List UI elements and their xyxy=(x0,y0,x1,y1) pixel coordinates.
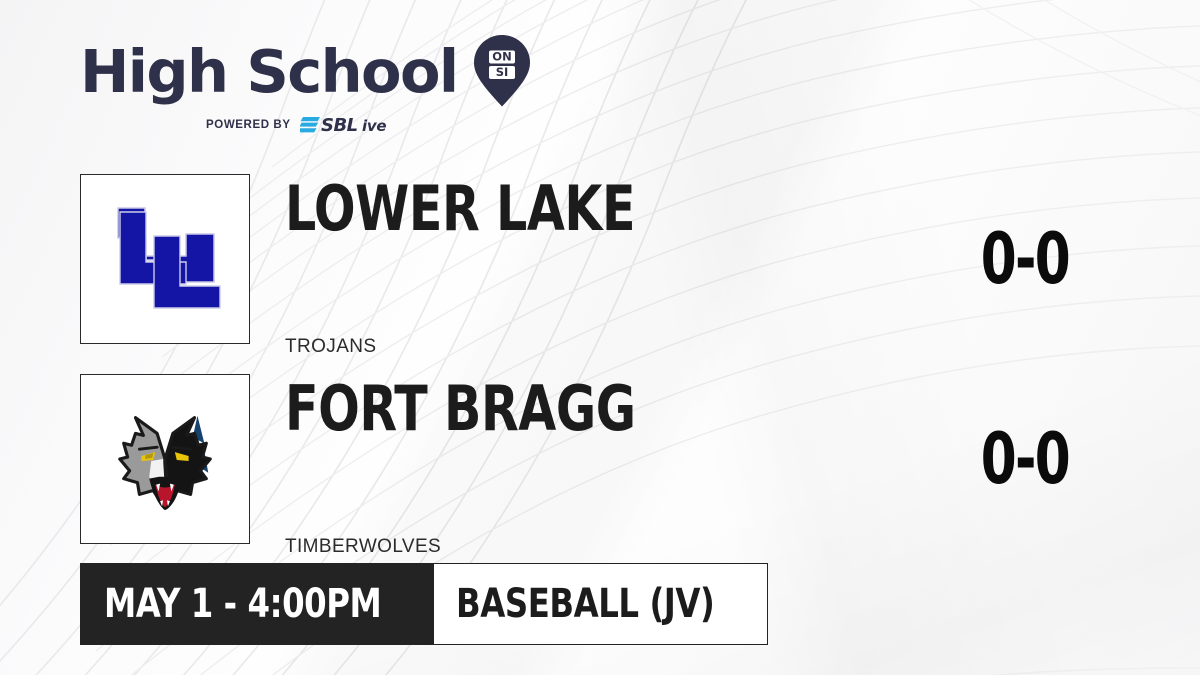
team-record-away: 0-0 xyxy=(920,374,1130,544)
game-datetime-block: MAY 1 - 4:00PM xyxy=(80,563,434,645)
team-mascot: TROJANS xyxy=(285,336,376,358)
team-record-home: 0-0 xyxy=(920,174,1130,344)
on-si-pin-icon: ON SI xyxy=(472,34,532,108)
wolf-head-icon xyxy=(120,416,210,510)
game-sport: BASEBALL (JV) xyxy=(456,584,714,624)
sblive-s-swoosh-icon xyxy=(300,117,320,132)
svg-text:SBL: SBL xyxy=(321,115,358,135)
svg-text:ON: ON xyxy=(492,49,511,63)
powered-by-label: POWERED BY xyxy=(206,119,291,131)
page-title: High School xyxy=(80,42,458,101)
header: High School ON SI POWERED BY xyxy=(80,34,720,135)
team-text-away: FORT BRAGG TIMBERWOLVES xyxy=(285,374,925,544)
record-value: 0-0 xyxy=(981,424,1069,494)
svg-text:ive: ive xyxy=(362,117,386,135)
team-text-home: LOWER LAKE TROJANS xyxy=(285,174,925,344)
team-name: FORT BRAGG xyxy=(285,378,636,440)
team-row-away: FORT BRAGG TIMBERWOLVES 0-0 xyxy=(80,374,1130,544)
record-value: 0-0 xyxy=(981,224,1069,294)
team-name: LOWER LAKE xyxy=(285,178,635,240)
svg-text:SI: SI xyxy=(495,65,508,79)
brand-row: High School ON SI xyxy=(80,34,720,108)
team-row-home: LOWER LAKE TROJANS 0-0 xyxy=(80,174,1130,344)
scoreboard-graphic: High School ON SI POWERED BY xyxy=(0,0,1200,675)
team-mascot: TIMBERWOLVES xyxy=(285,536,441,558)
sblive-logo: SBL ive xyxy=(300,114,408,135)
game-info-banner: MAY 1 - 4:00PM BASEBALL (JV) xyxy=(80,563,768,645)
powered-by-row: POWERED BY SBL ive xyxy=(206,114,720,135)
team-logo-fort-bragg xyxy=(80,374,250,544)
team-logo-lower-lake xyxy=(80,174,250,344)
game-sport-block: BASEBALL (JV) xyxy=(434,563,768,645)
game-datetime: MAY 1 - 4:00PM xyxy=(104,584,381,624)
